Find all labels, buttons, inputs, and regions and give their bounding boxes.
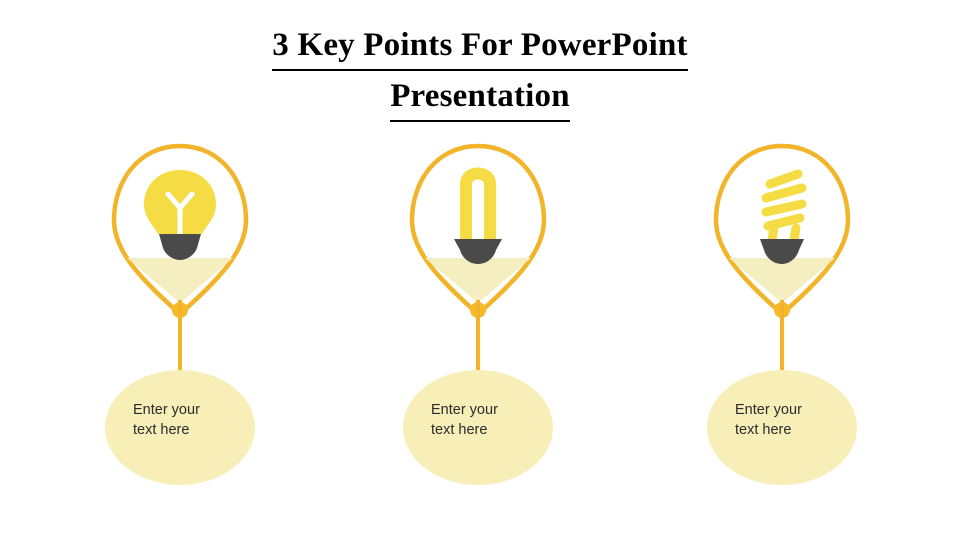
text-bubble-1[interactable]: Enter your text here (105, 370, 255, 485)
key-point-2[interactable]: Enter your text here (378, 0, 578, 540)
connector-line-2 (476, 300, 480, 376)
map-pin-3[interactable] (704, 140, 860, 320)
key-point-1[interactable]: Enter your text here (80, 0, 280, 540)
connector-line-1 (178, 300, 182, 376)
connector-line-3 (780, 300, 784, 376)
key-point-3[interactable]: Enter your text here (682, 0, 882, 540)
bulb-base-icon (159, 234, 201, 260)
u-tube-bulb-icon (466, 174, 490, 245)
bubble-text-3: Enter your text here (735, 400, 839, 440)
slide-canvas: 3 Key Points For PowerPoint Presentation… (0, 0, 960, 540)
bubble-text-1: Enter your text here (133, 400, 237, 440)
bubble-text-2: Enter your text here (431, 400, 535, 440)
map-pin-2[interactable] (400, 140, 556, 320)
spiral-cfl-bulb-icon (766, 174, 802, 240)
map-pin-1[interactable] (102, 140, 258, 320)
text-bubble-3[interactable]: Enter your text here (707, 370, 857, 485)
text-bubble-2[interactable]: Enter your text here (403, 370, 553, 485)
